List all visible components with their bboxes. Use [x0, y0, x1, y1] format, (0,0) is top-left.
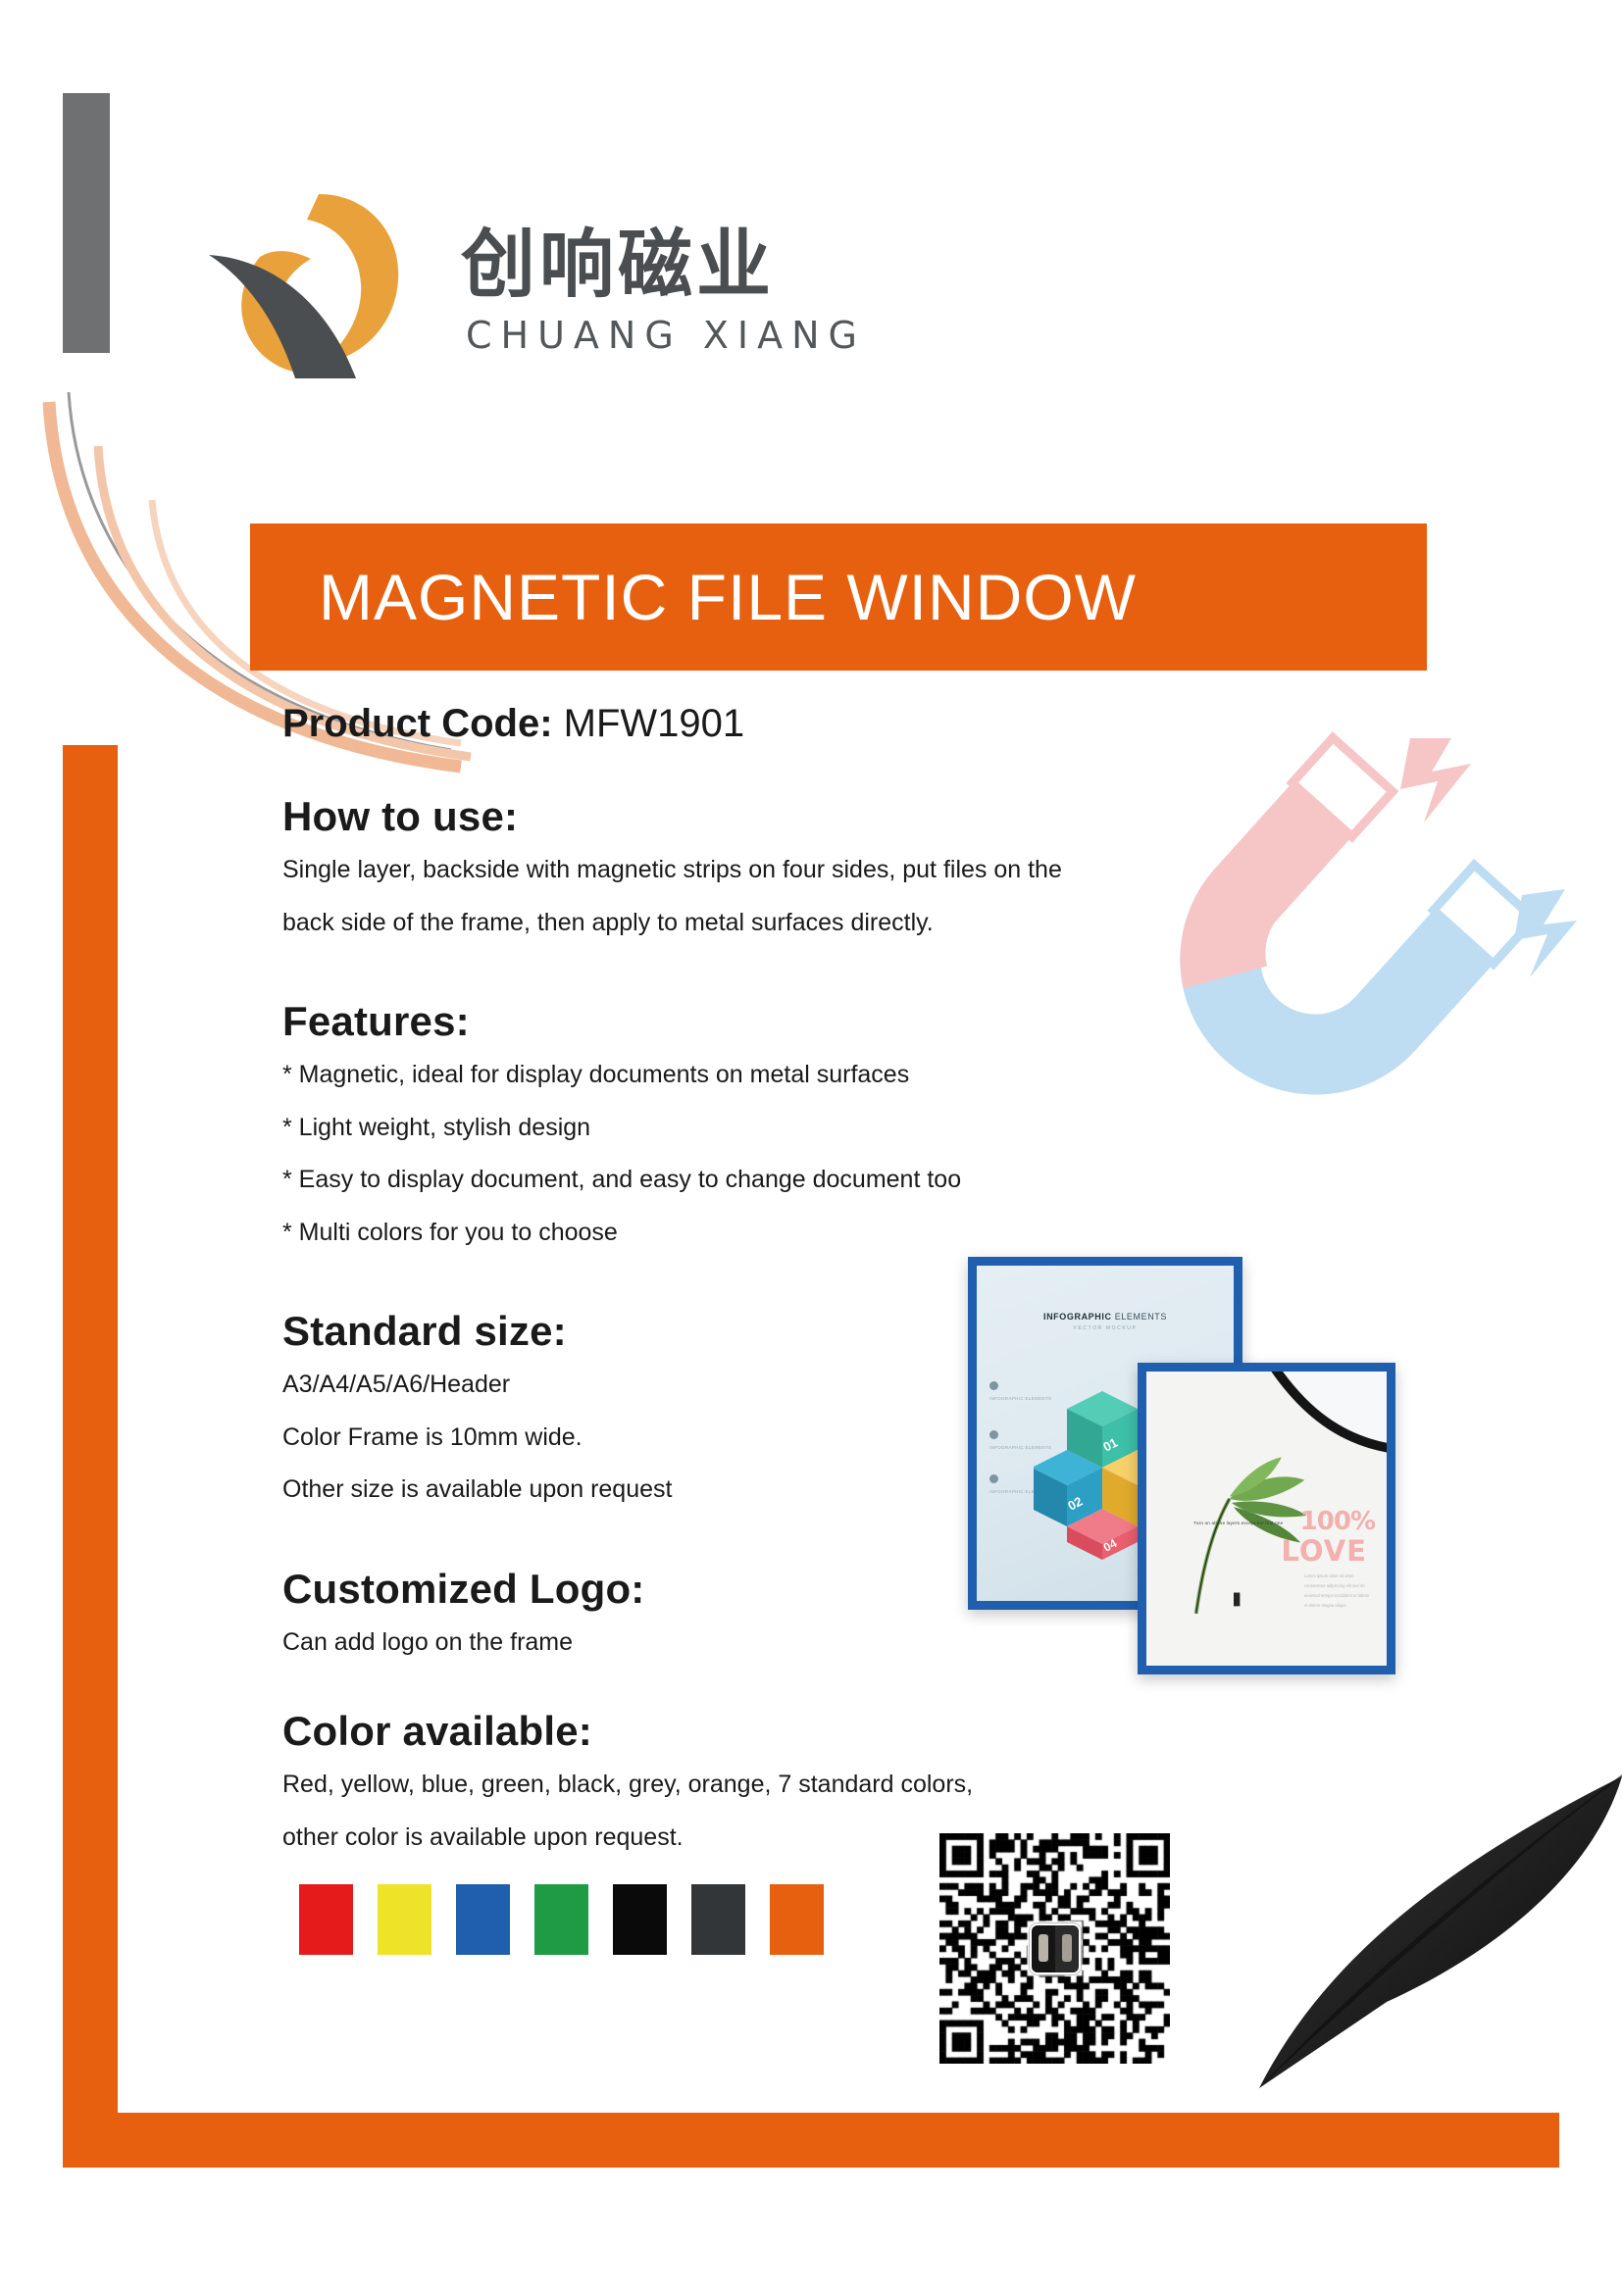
frame-b-caption: Turn on all the layers except the first … [1193, 1521, 1283, 1525]
frame-b-headline-word: LOVE [1281, 1534, 1367, 1568]
color-swatch-red[interactable] [299, 1884, 353, 1955]
section-heading-color-available: Color available: [282, 1708, 1224, 1755]
frame-a-title-strong: INFOGRAPHIC [1043, 1312, 1112, 1322]
section-body-features: * Magnetic, ideal for display documents … [282, 1053, 1224, 1254]
frame-b-headline-number: 100% [1300, 1507, 1375, 1536]
section-heading-how-to-use: How to use: [282, 793, 1224, 840]
text-line: back side of the frame, then apply to me… [282, 901, 1224, 945]
page-title-banner: MAGNETIC FILE WINDOW [250, 524, 1427, 671]
text-line: Single layer, backside with magnetic str… [282, 848, 1224, 892]
qr-code[interactable] [939, 1833, 1170, 2064]
section-body-how-to-use: Single layer, backside with magnetic str… [282, 848, 1224, 944]
grey-accent-tab [63, 93, 110, 353]
orange-bottom-border [63, 2113, 1559, 2168]
frame-a-title-light: ELEMENTS [1112, 1312, 1167, 1322]
feature-item: * Light weight, stylish design [282, 1106, 1224, 1150]
feature-item: * Magnetic, ideal for display documents … [282, 1053, 1224, 1097]
logo-chinese-name: 创响磁业 [461, 204, 775, 312]
legend-bullet-icon [989, 1430, 998, 1439]
product-code-label: Product Code: [282, 702, 553, 745]
color-swatch-blue[interactable] [456, 1884, 510, 1955]
chuangxiang-logo-mark-icon [201, 186, 427, 392]
color-swatch-orange[interactable] [770, 1884, 824, 1955]
product-code-line: Product Code: MFW1901 [282, 702, 1224, 746]
frame-a-subtitle: VECTOR MOCKUP [977, 1325, 1234, 1331]
color-swatch-grey[interactable] [691, 1884, 745, 1955]
logo-latin-name: CHUANG XIANG [466, 314, 866, 357]
color-swatch-black[interactable] [613, 1884, 667, 1955]
color-swatch-yellow[interactable] [378, 1884, 431, 1955]
product-frame-a4-love: Turn on all the layers except the first … [1138, 1363, 1395, 1674]
section-heading-features: Features: [282, 998, 1224, 1045]
color-swatch-row [299, 1884, 824, 1955]
legend-bullet-icon [989, 1474, 998, 1483]
frame-b-body-text: Lorem ipsum dolor sit amet consectetur a… [1304, 1572, 1373, 1611]
orange-left-border [63, 745, 118, 2167]
page-title: MAGNETIC FILE WINDOW [319, 560, 1137, 634]
feature-item: * Easy to display document, and easy to … [282, 1158, 1224, 1202]
text-line: Red, yellow, blue, green, black, grey, o… [282, 1763, 1224, 1807]
company-logo: 创响磁业 CHUANG XIANG [201, 186, 946, 412]
product-photos: INFOGRAPHIC ELEMENTS VECTOR MOCKUP INFOG… [956, 1245, 1446, 1667]
frame-a-title: INFOGRAPHIC ELEMENTS [977, 1312, 1234, 1322]
legend-bullet-icon [989, 1381, 998, 1390]
color-swatch-green[interactable] [534, 1884, 588, 1955]
product-code-value: MFW1901 [553, 702, 745, 745]
datasheet-page: 创响磁业 CHUANG XIANG MAGNETIC FILE WINDOW P… [0, 0, 1622, 2296]
frame-b-sheet: Turn on all the layers except the first … [1146, 1372, 1387, 1666]
qr-center-avatar [1030, 1923, 1081, 1974]
